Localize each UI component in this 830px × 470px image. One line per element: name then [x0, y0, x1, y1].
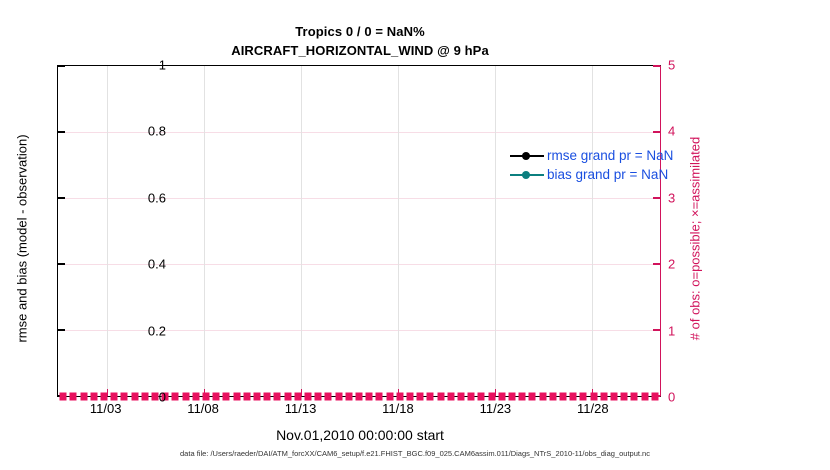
- tick-left: [58, 131, 65, 133]
- obs-marker: [355, 391, 364, 402]
- obs-marker: [589, 391, 598, 402]
- legend: rmse grand pr = NaN bias grand pr = NaN: [510, 146, 673, 184]
- obs-marker: [273, 391, 282, 402]
- obs-marker: [263, 391, 272, 402]
- tick-bottom: [495, 389, 496, 396]
- tick-bottom: [592, 389, 593, 396]
- bottom-tick-label: 11/18: [382, 401, 414, 416]
- obs-marker: [395, 391, 404, 402]
- tick-bottom: [204, 389, 205, 396]
- obs-marker: [222, 391, 231, 402]
- obs-marker: [528, 391, 537, 402]
- chart-title: Tropics 0 / 0 = NaN% AIRCRAFT_HORIZONTAL…: [0, 22, 720, 60]
- obs-marker: [640, 391, 649, 402]
- tick-right: [653, 65, 660, 67]
- obs-marker: [538, 391, 547, 402]
- bottom-tick-label: 11/08: [187, 401, 219, 416]
- right-tick-label: 2: [668, 257, 675, 272]
- tick-left: [58, 65, 65, 67]
- obs-marker: [314, 391, 323, 402]
- gridline-vertical: [107, 66, 108, 396]
- obs-marker: [89, 391, 98, 402]
- obs-marker: [426, 391, 435, 402]
- obs-marker: [497, 391, 506, 402]
- obs-marker: [569, 391, 578, 402]
- gridline-vertical: [495, 66, 496, 396]
- obs-marker: [518, 391, 527, 402]
- left-axis-title: rmse and bias (model - observation): [15, 89, 30, 389]
- plot-area: rmse grand pr = NaN bias grand pr = NaN: [57, 65, 661, 397]
- obs-marker: [303, 391, 312, 402]
- obs-marker: [120, 391, 129, 402]
- left-tick-label: 0.2: [148, 323, 166, 338]
- obs-marker: [232, 391, 241, 402]
- left-tick-label: 0.8: [148, 124, 166, 139]
- obs-marker: [334, 391, 343, 402]
- tick-right: [653, 197, 660, 199]
- title-line-2: AIRCRAFT_HORIZONTAL_WIND @ 9 hPa: [0, 41, 720, 60]
- gridline-vertical: [398, 66, 399, 396]
- gridline-vertical: [301, 66, 302, 396]
- obs-marker: [610, 391, 619, 402]
- right-tick-label: 0: [668, 390, 675, 405]
- tick-left: [58, 197, 65, 199]
- obs-marker: [406, 391, 415, 402]
- left-tick-label: 0.6: [148, 190, 166, 205]
- tick-right: [653, 395, 660, 397]
- obs-marker: [283, 391, 292, 402]
- bottom-tick-label: 11/13: [285, 401, 317, 416]
- tick-bottom: [301, 389, 302, 396]
- left-tick-label: 0: [159, 390, 166, 405]
- bottom-tick-label: 11/28: [577, 401, 609, 416]
- obs-marker: [324, 391, 333, 402]
- legend-line-marker-bias: [510, 169, 544, 181]
- tick-left: [58, 263, 65, 265]
- obs-marker: [130, 391, 139, 402]
- left-tick-label: 1: [159, 58, 166, 73]
- obs-marker: [252, 391, 261, 402]
- obs-marker: [446, 391, 455, 402]
- tick-left: [58, 395, 65, 397]
- bottom-axis-title: Nov.01,2010 00:00:00 start: [0, 427, 720, 443]
- obs-marker: [548, 391, 557, 402]
- legend-item-rmse[interactable]: rmse grand pr = NaN: [510, 146, 673, 165]
- obs-marker: [385, 391, 394, 402]
- obs-marker: [365, 391, 374, 402]
- legend-item-bias[interactable]: bias grand pr = NaN: [510, 165, 673, 184]
- obs-marker: [375, 391, 384, 402]
- obs-marker: [579, 391, 588, 402]
- obs-marker: [477, 391, 486, 402]
- left-tick-label: 0.4: [148, 257, 166, 272]
- obs-marker: [508, 391, 517, 402]
- tick-bottom: [398, 389, 399, 396]
- right-tick-label: 1: [668, 323, 675, 338]
- tick-right: [653, 263, 660, 265]
- obs-marker: [110, 391, 119, 402]
- obs-marker: [457, 391, 466, 402]
- obs-marker: [242, 391, 251, 402]
- observation-marker-row: [58, 391, 660, 402]
- tick-left: [58, 329, 65, 331]
- obs-marker: [212, 391, 221, 402]
- obs-marker: [181, 391, 190, 402]
- obs-marker: [171, 391, 180, 402]
- data-file-path: data file: /Users/raeder/DAI/ATM_forcXX/…: [0, 449, 830, 458]
- bottom-tick-label: 11/23: [480, 401, 512, 416]
- gridline-vertical: [204, 66, 205, 396]
- bottom-tick-label: 11/03: [90, 401, 122, 416]
- right-tick-label: 3: [668, 190, 675, 205]
- obs-marker: [630, 391, 639, 402]
- obs-marker: [140, 391, 149, 402]
- obs-marker: [79, 391, 88, 402]
- obs-marker: [416, 391, 425, 402]
- obs-marker: [344, 391, 353, 402]
- right-axis-title: # of obs: o=possible; ×=assimilated: [688, 89, 703, 389]
- obs-marker: [559, 391, 568, 402]
- legend-line-marker-rmse: [510, 150, 544, 162]
- obs-marker: [69, 391, 78, 402]
- tick-right: [653, 131, 660, 133]
- tick-right: [653, 329, 660, 331]
- right-tick-label: 5: [668, 58, 675, 73]
- gridline-vertical: [592, 66, 593, 396]
- obs-marker: [191, 391, 200, 402]
- legend-label-rmse: rmse grand pr = NaN: [547, 148, 673, 163]
- obs-marker: [436, 391, 445, 402]
- obs-marker: [599, 391, 608, 402]
- legend-label-bias: bias grand pr = NaN: [547, 167, 668, 182]
- title-line-1: Tropics 0 / 0 = NaN%: [0, 22, 720, 41]
- obs-marker: [620, 391, 629, 402]
- right-tick-label: 4: [668, 124, 675, 139]
- obs-marker: [467, 391, 476, 402]
- tick-bottom: [107, 389, 108, 396]
